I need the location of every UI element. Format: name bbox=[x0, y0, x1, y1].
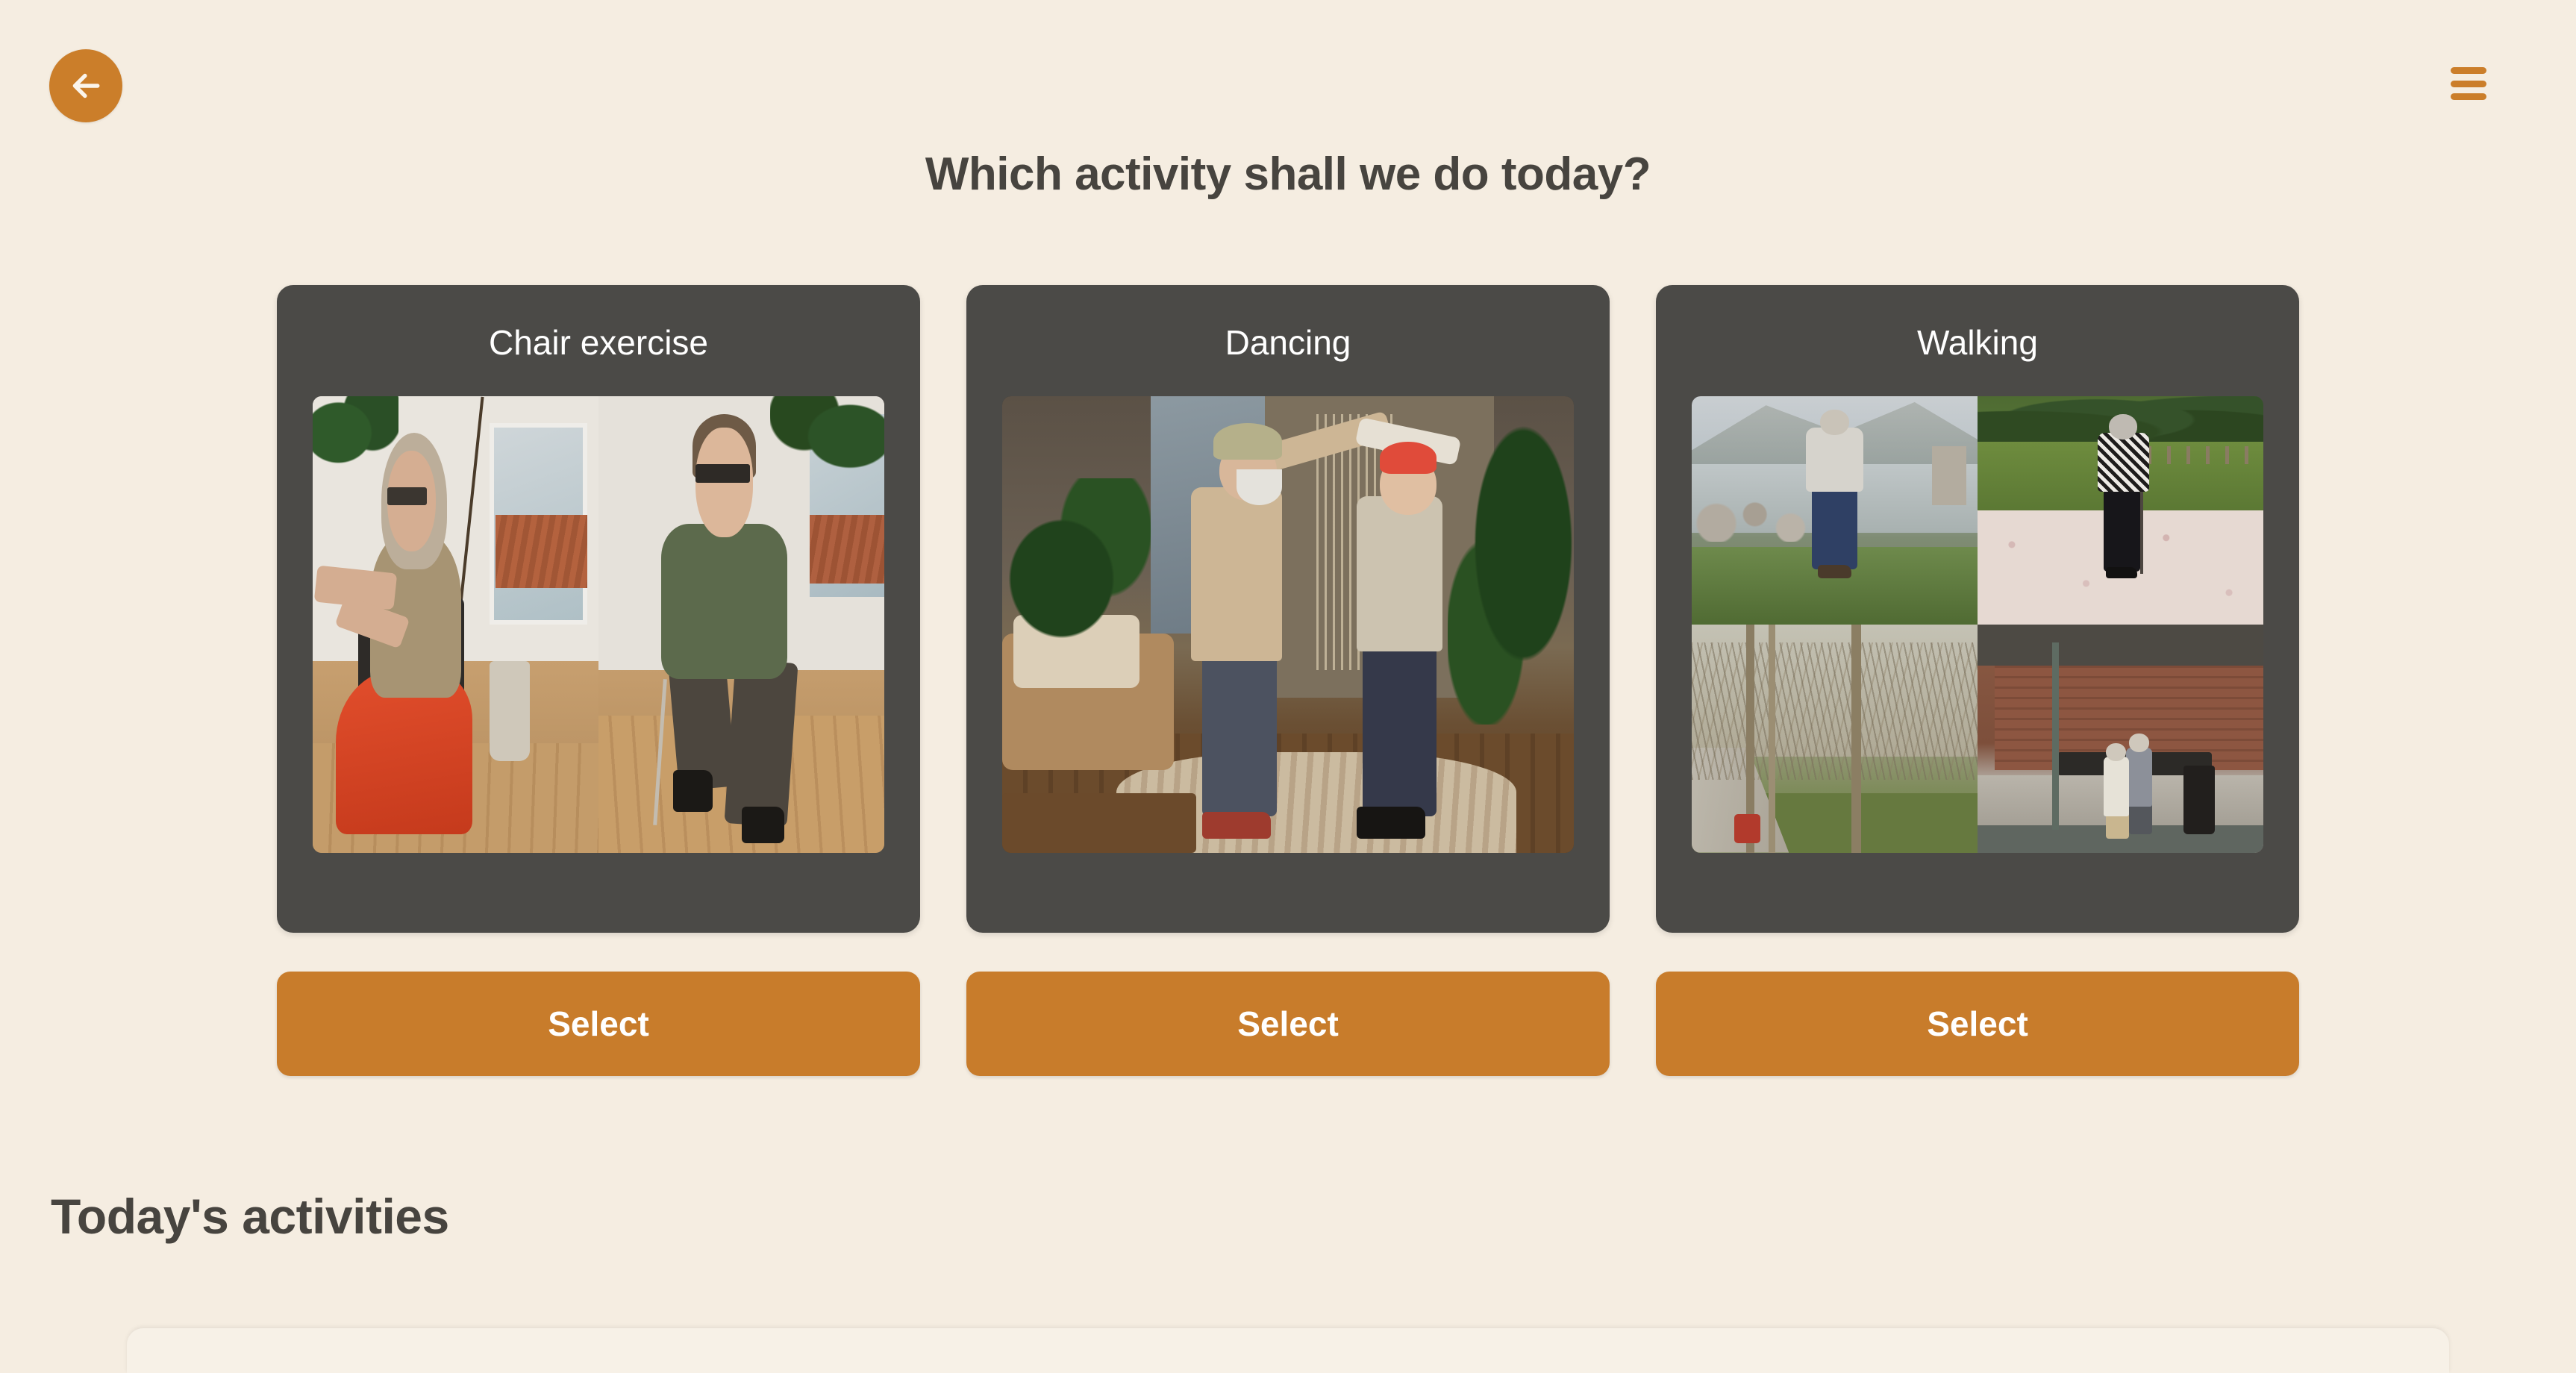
arrow-left-icon bbox=[66, 66, 106, 106]
back-button[interactable] bbox=[49, 49, 122, 122]
activity-photo-collage bbox=[313, 396, 884, 853]
select-button-dancing[interactable]: Select bbox=[966, 972, 1610, 1076]
activity-photo-collage bbox=[1002, 396, 1574, 853]
page-title: Which activity shall we do today? bbox=[0, 148, 2576, 201]
select-button-walking[interactable]: Select bbox=[1656, 972, 2299, 1076]
hamburger-menu-icon-line-2 bbox=[2451, 81, 2486, 87]
hamburger-menu-button[interactable] bbox=[2451, 64, 2495, 103]
hamburger-menu-icon-line-3 bbox=[2451, 93, 2486, 100]
activity-card-chair-exercise[interactable]: Chair exercise bbox=[277, 285, 920, 933]
activity-card-title: Dancing bbox=[1225, 324, 1351, 362]
activity-column-walking: Walking bbox=[1656, 285, 2299, 1076]
photo-two-people-walking-past-brick-building bbox=[1978, 625, 2263, 853]
photo-man-seated-chair-exercise-indoors bbox=[598, 396, 884, 853]
activity-card-dancing[interactable]: Dancing bbox=[966, 285, 1610, 933]
select-button-chair-exercise[interactable]: Select bbox=[277, 972, 920, 1076]
photo-man-walking-by-lakeshore bbox=[1692, 396, 1978, 625]
photo-woman-with-cane-walking-in-park bbox=[1978, 396, 2263, 625]
photo-older-woman-chair-exercise-indoors bbox=[313, 396, 598, 853]
activity-card-title: Chair exercise bbox=[489, 324, 708, 362]
hamburger-menu-icon-line-1 bbox=[2451, 67, 2486, 74]
activity-column-chair-exercise: Chair exercise bbox=[277, 285, 920, 1076]
top-bar bbox=[0, 0, 2576, 172]
todays-activities-heading: Today's activities bbox=[51, 1188, 449, 1245]
photo-senior-couple-dancing-in-living-room bbox=[1002, 396, 1574, 853]
activity-photo-collage bbox=[1692, 396, 2263, 853]
activity-cards-row: Chair exercise bbox=[277, 285, 2300, 1076]
activity-card-title: Walking bbox=[1917, 324, 2038, 362]
photo-path-through-bare-trees bbox=[1692, 625, 1978, 853]
todays-activities-panel[interactable] bbox=[127, 1328, 2449, 1373]
activity-column-dancing: Dancing bbox=[966, 285, 1610, 1076]
activity-card-walking[interactable]: Walking bbox=[1656, 285, 2299, 933]
